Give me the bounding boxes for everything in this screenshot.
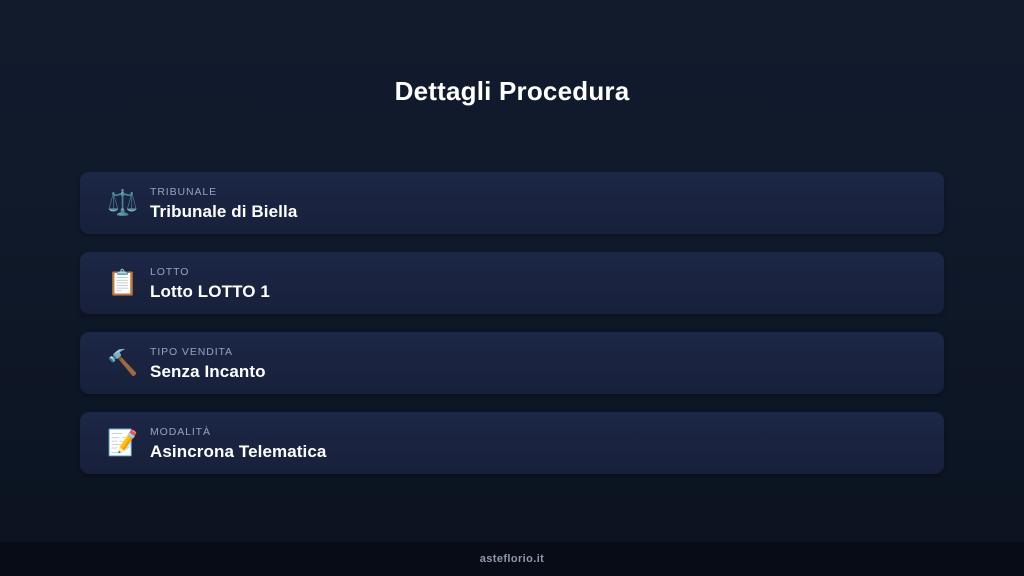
detail-card-text: MODALITÀ Asincrona Telematica — [150, 425, 326, 462]
document-pencil-icon: 📝 — [106, 426, 140, 460]
detail-card-list: ⚖️ TRIBUNALE Tribunale di Biella 📋 LOTTO… — [80, 172, 944, 474]
detail-card-label: TRIBUNALE — [150, 185, 297, 199]
detail-card-text: TIPO VENDITA Senza Incanto — [150, 345, 266, 382]
detail-card-label: TIPO VENDITA — [150, 345, 266, 359]
procedure-details-page: Dettagli Procedura ⚖️ TRIBUNALE Tribunal… — [0, 0, 1024, 576]
detail-card-value: Lotto LOTTO 1 — [150, 281, 270, 302]
balance-scale-icon: ⚖️ — [106, 186, 140, 220]
footer-bar: asteflorio.it — [0, 542, 1024, 576]
detail-card-tipo-vendita[interactable]: 🔨 TIPO VENDITA Senza Incanto — [80, 332, 944, 394]
hammer-icon: 🔨 — [106, 346, 140, 380]
page-title-container: Dettagli Procedura — [0, 58, 1024, 125]
detail-card-tribunale[interactable]: ⚖️ TRIBUNALE Tribunale di Biella — [80, 172, 944, 234]
footer-site-name: asteflorio.it — [480, 553, 545, 565]
detail-card-text: TRIBUNALE Tribunale di Biella — [150, 185, 297, 222]
detail-card-value: Senza Incanto — [150, 361, 266, 382]
detail-card-lotto[interactable]: 📋 LOTTO Lotto LOTTO 1 — [80, 252, 944, 314]
detail-card-modalita[interactable]: 📝 MODALITÀ Asincrona Telematica — [80, 412, 944, 474]
detail-card-value: Tribunale di Biella — [150, 201, 297, 222]
detail-card-label: LOTTO — [150, 265, 270, 279]
clipboard-icon: 📋 — [106, 266, 140, 300]
detail-card-text: LOTTO Lotto LOTTO 1 — [150, 265, 270, 302]
detail-card-value: Asincrona Telematica — [150, 441, 326, 462]
detail-card-label: MODALITÀ — [150, 425, 326, 439]
page-title: Dettagli Procedura — [395, 75, 630, 107]
